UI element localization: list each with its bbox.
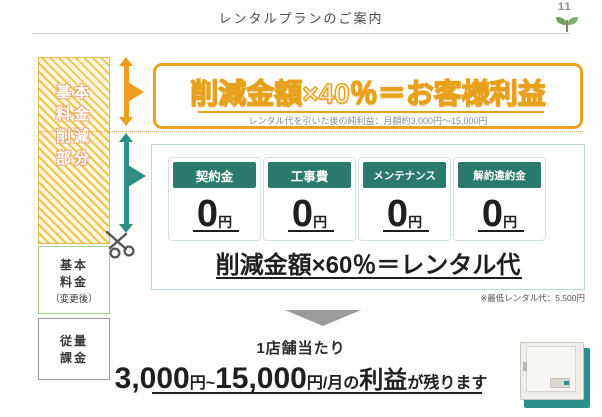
arrow-column [112,57,140,244]
teal-pointer-triangle [128,165,146,187]
minimum-rental-note: ※最低レンタル代：5,500円 [420,292,585,304]
cost-card-title: 工事費 [268,162,351,188]
profit-tail: が残ります [407,375,487,392]
cost-card: 工事費 0 円 [263,157,356,241]
base-fee-after-line-2: 料金 [39,274,109,291]
profit-summary: 3,000円~15,000円/月の利益が残ります [0,360,602,396]
cost-card-unit: 円 [408,212,422,238]
slide-header: レンタルプランのご案内 11 [0,0,602,38]
cost-card: 契約金 0 円 [168,157,261,241]
cost-card-underline [288,230,334,232]
hatch-line-2: 料金 [38,104,110,126]
cost-card-unit: 円 [218,212,232,238]
photo-led [564,381,569,385]
logo-mark-text: 11 [558,2,572,12]
hatch-line-1: 基本 [38,82,110,104]
cost-card-title: 契約金 [173,162,256,188]
cost-card-number: 0 [387,195,408,233]
cost-card-unit: 円 [313,212,327,238]
logo-stem [566,20,568,32]
base-fee-after-note: （変更後） [39,291,109,305]
orange-pointer-triangle [128,82,144,102]
zero-cost-panel: 契約金 0 円 工事費 0 円 メンテナンス 0 円 [151,144,585,290]
cost-card-number: 0 [197,195,218,233]
infographic-slide: レンタルプランのご案内 11 基本 料金 削減 部分 基本 料金 （変更後） 従… [0,0,602,417]
profit-yen-low: 円~ [190,375,215,392]
base-fee-after-box: 基本 料金 （変更後） [38,246,110,314]
cost-card-underline [193,230,239,232]
customer-profit-formula: 削減金額×40％＝お客様利益 [156,72,580,112]
cost-card: メンテナンス 0 円 [358,157,451,241]
control-box-photo [520,340,594,410]
rental-fee-formula-underline [216,277,522,279]
customer-profit-banner: 削減金額×40％＝お客様利益 レンタル代を引いた後の純利益：月額約3,000円～… [153,63,583,129]
customer-profit-underline [198,111,544,113]
cost-card-number: 0 [292,195,313,233]
cost-card-underline [383,230,429,232]
hatch-line-4: 部分 [38,148,110,170]
cost-card: 解約違約金 0 円 [453,157,546,241]
hatch-line-3: 削減 [38,126,110,148]
orange-arrow-head-down [119,117,133,126]
base-fee-reduction-label: 基本 料金 削減 部分 [38,82,110,170]
cost-card-underline [478,230,524,232]
profit-word: 利益 [359,367,407,394]
rental-fee-formula: 削減金額×60％＝レンタル代 [152,245,584,280]
cost-card-unit: 円 [503,212,517,238]
profit-amount-high: 15,000 [215,362,307,395]
dotted-divider [38,131,583,132]
page-title: レンタルプランのご案内 [0,8,602,27]
cost-card-title: メンテナンス [363,162,446,188]
down-arrow-triangle [285,310,361,326]
profit-summary-underline [152,392,482,394]
per-shop-label: 1店舗当たり [0,337,602,358]
base-fee-after-label: 基本 料金 [39,257,109,291]
customer-profit-subtitle: レンタル代を引いた後の純利益：月額約3,000円～15,000円 [156,114,580,127]
cost-card-title: 解約違約金 [458,162,541,188]
cost-card-number: 0 [482,195,503,233]
profit-yen-high: 円/月の [307,375,359,392]
header-divider [32,33,570,34]
base-fee-after-line-1: 基本 [39,257,109,274]
profit-amount-low: 3,000 [115,362,190,395]
brand-logo: 11 [550,2,584,34]
scissors-icon [104,228,138,262]
photo-latch [523,362,527,371]
